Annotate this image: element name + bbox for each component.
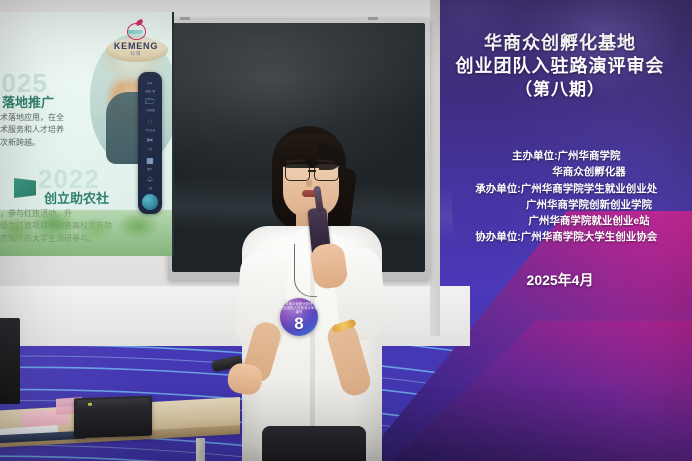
event-title-block: 华商众创孵化基地 创业团队入驻路演评审会 （第八期） — [428, 32, 692, 101]
slide-heading-2022: 创立助农社 — [44, 188, 109, 207]
toolbar-label: 工具 — [148, 147, 153, 151]
speaker-figure: 华商众创孵化基地 创业团队入驻路演评审会 编号 8 — [236, 126, 386, 461]
room-wall-lower — [0, 286, 470, 346]
badge-caption: 华商众创孵化基地 创业团队入驻路演评审会 编号 — [280, 302, 317, 314]
toolbar-label: 屏幕广播 — [145, 89, 154, 93]
organizer-value: 华商众创孵化器 — [552, 164, 626, 180]
slide-flag-icon — [14, 178, 36, 198]
cloud-icon: ◌ — [144, 116, 156, 127]
organizer-key: 协办单位: — [463, 229, 521, 245]
kemeng-logo: KEMENG 科萌 — [108, 20, 164, 57]
glasses-lens-right — [314, 164, 339, 181]
toolbar-item-tools[interactable]: ✂ 工具 — [138, 136, 162, 152]
link-icon: ⇔ — [144, 77, 156, 88]
glasses-bridge — [308, 170, 316, 172]
organizer-row: 协办单位: 广州华商学院大学生创业协会 — [428, 229, 692, 245]
organizer-value: 广州华商学院就业创业e站 — [528, 213, 649, 229]
desk-laptop[interactable] — [74, 396, 152, 439]
slide-tree-graphic — [0, 210, 174, 256]
organizer-value: 广州华商学院大学生创业协会 — [521, 229, 658, 245]
speaker-trousers — [262, 426, 366, 461]
speaker-number-badge: 华商众创孵化基地 创业团队入驻路演评审会 编号 8 — [280, 298, 318, 336]
speaker-glasses — [283, 164, 341, 179]
toolbar-item-teaching[interactable]: ▦ 教学 — [138, 155, 162, 171]
toolbar-item-class[interactable]: ♤ 上课 — [138, 175, 162, 191]
badge-number: 8 — [294, 315, 303, 332]
desk-leg — [196, 438, 205, 461]
event-title-line-3: （第八期） — [428, 79, 692, 101]
desk-monitor — [0, 318, 20, 404]
bezel-mark-right — [368, 17, 378, 20]
organizer-value: 广州华商学院学生就业创业处 — [521, 181, 658, 197]
organizer-key: 承办单位: — [463, 181, 521, 197]
event-title-line-1: 华商众创孵化基地 — [428, 32, 692, 55]
organizer-row: 承办单位: 广州华商学院就业创业e站 — [428, 213, 692, 229]
toolbar-item-groups[interactable]: 🗁 小组管理 — [138, 97, 162, 113]
kemeng-fruit-icon — [125, 20, 147, 40]
toolbar-item-broadcast[interactable]: ⇔ 屏幕广播 — [138, 77, 162, 93]
kemeng-logo-subtitle: 科萌 — [108, 51, 164, 57]
toolbar-label: 学生互动 — [145, 128, 154, 132]
speaker-nose — [306, 179, 312, 187]
organizer-key: 主办单位: — [500, 148, 558, 164]
whiteboard-toolbar[interactable]: ⇔ 屏幕广播 🗁 小组管理 ◌ 学生互动 ✂ 工具 ▦ 教学 ♤ 上课 — [138, 72, 162, 214]
user-avatar-icon[interactable] — [142, 194, 158, 210]
toolbar-label: 小组管理 — [145, 108, 154, 112]
toolbar-item-interaction[interactable]: ◌ 学生互动 — [138, 116, 162, 132]
organizer-row: 承办单位: 广州华商学院学生就业创业处 — [428, 181, 692, 197]
toolbar-label: 教学 — [148, 167, 153, 171]
laptop-indicator-light — [88, 403, 92, 406]
organizer-row: 主办单位: 广州华商学院 — [428, 148, 692, 164]
organizer-list: 主办单位: 广州华商学院 主办单位: 华商众创孵化器 承办单位: 广州华商学院学… — [428, 148, 692, 246]
folder-icon: 🗁 — [144, 97, 156, 108]
glasses-lens-left — [285, 164, 310, 181]
organizer-value: 广州华商学院创新创业学院 — [526, 197, 652, 213]
slide-heading-2025: 落地推广 — [2, 92, 54, 111]
event-title-line-2: 创业团队入驻路演评审会 — [428, 55, 692, 78]
organizer-row: 主办单位: 华商众创孵化器 — [428, 164, 692, 180]
grid-icon: ▦ — [144, 155, 156, 166]
organizer-row: 承办单位: 广州华商学院创新创业学院 — [428, 197, 692, 213]
bell-icon: ♤ — [144, 175, 156, 186]
event-photo-scene: 华商众创孵化基地 创业团队入驻路演评审会 （第八期） 主办单位: 广州华商学院 … — [0, 0, 692, 461]
bezel-mark-left — [180, 17, 190, 20]
scissors-icon: ✂ — [144, 136, 156, 147]
organizer-value: 广州华商学院 — [558, 148, 621, 164]
slide-body-2025: 术落地应用，在全 术服务和人才培养 次新跨越。 — [0, 112, 140, 149]
kemeng-logo-name: KEMENG — [108, 41, 164, 51]
speaker-fringe — [277, 134, 343, 168]
toolbar-label: 上课 — [148, 186, 153, 190]
